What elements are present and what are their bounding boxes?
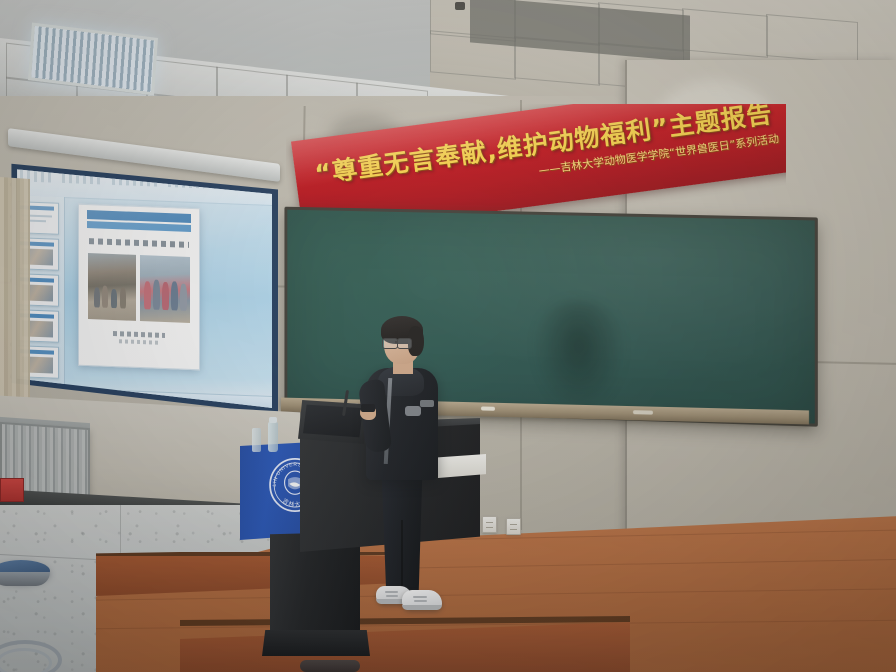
lecture-hall-photo: “尊重无言奉献,维护动物福利”主题报告 ——吉林大学动物医学学院“世界兽医日”系…	[0, 0, 896, 672]
slide-subcaption-text	[119, 339, 159, 345]
eyeglasses-lens-right	[397, 338, 412, 349]
foreground-object	[300, 660, 360, 672]
lectern-base	[262, 630, 370, 656]
second-bottle	[252, 428, 261, 452]
sleeve-patch	[420, 400, 434, 407]
eyeglasses-lens-left	[382, 338, 398, 349]
screen-projected-image	[12, 162, 272, 408]
presenter-shadow	[533, 300, 625, 415]
slide-accent-bar	[87, 221, 191, 232]
stool-base	[0, 572, 50, 586]
water-bottle	[268, 422, 278, 452]
eyeglasses-bridge	[395, 341, 398, 343]
bottle-cap	[269, 417, 277, 423]
presentation-clicker	[361, 404, 375, 412]
leg-separation	[401, 520, 403, 592]
window-curtain	[0, 177, 30, 429]
ceiling-fixture-icon	[455, 2, 465, 10]
jacket-logo	[405, 406, 421, 416]
slide-title-text	[89, 238, 189, 248]
wall-switch[interactable]	[506, 518, 521, 535]
slide-photo-left	[88, 253, 136, 321]
presenter	[358, 320, 462, 620]
slide-photo-right	[140, 255, 190, 323]
wall-outlet[interactable]	[482, 516, 497, 533]
projector-screen	[6, 146, 278, 414]
laptop-screen	[303, 404, 363, 438]
red-box-object	[0, 478, 24, 502]
slide-caption-text	[113, 331, 165, 338]
sneaker-right	[402, 590, 442, 610]
current-slide	[78, 204, 200, 371]
